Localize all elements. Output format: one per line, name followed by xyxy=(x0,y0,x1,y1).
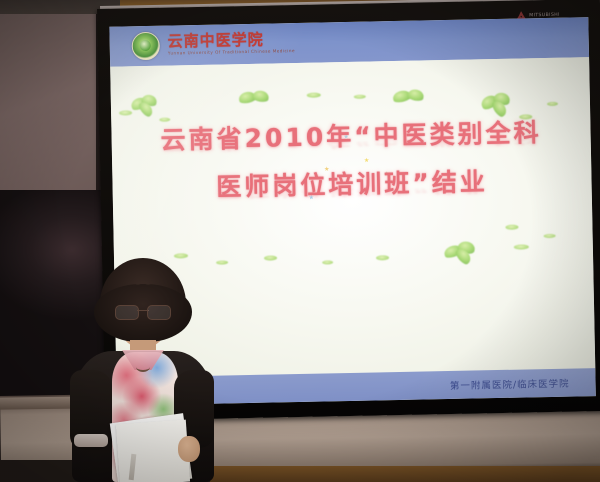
clover-accent xyxy=(307,93,321,98)
slide-footer-text: 第一附属医院/临床医学院 xyxy=(450,376,570,392)
eyeglasses-icon xyxy=(115,305,171,318)
university-name-cn: 云南中医学院 xyxy=(168,32,295,50)
woman-presenter xyxy=(52,258,232,482)
green-clover-leaf-icon xyxy=(129,94,163,117)
slide-title: 云南省2010年“中医类别全科云南省2010年“中医类别全科 医师岗位培训班”结… xyxy=(111,112,592,206)
clover-accent xyxy=(547,102,558,106)
presenter-necklace xyxy=(136,362,150,372)
presenter-hand xyxy=(178,436,200,462)
clover-accent xyxy=(322,260,333,264)
classroom-scene: MITSUBISHI 云南中医学院 Yunnan University Of T… xyxy=(0,0,600,482)
classroom-wall xyxy=(0,14,104,204)
clover-accent xyxy=(354,95,366,99)
green-clover-leaf-icon xyxy=(393,86,427,109)
green-clover-leaf-icon xyxy=(444,239,478,262)
title-reflection: 医师岗位培训班”结业 xyxy=(113,174,592,206)
presenter-sleeve-cuff xyxy=(74,434,108,447)
clover-accent xyxy=(544,234,556,238)
clover-accent xyxy=(376,255,389,260)
clover-accent xyxy=(264,255,277,260)
clover-accent xyxy=(514,244,529,249)
university-name-block: 云南中医学院 Yunnan University Of Traditional … xyxy=(168,32,296,56)
clover-accent xyxy=(505,225,518,230)
green-clover-leaf-icon xyxy=(239,87,273,110)
university-seal-icon xyxy=(131,32,160,61)
green-clover-leaf-icon xyxy=(479,93,513,116)
